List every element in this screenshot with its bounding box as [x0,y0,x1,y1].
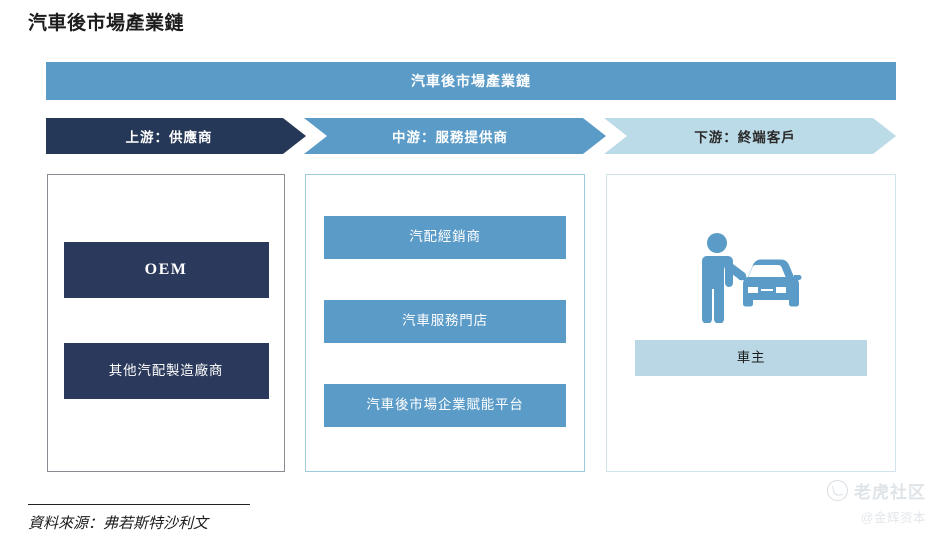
chevron-label-downstream: 下游：終端客戶 [694,126,806,146]
banner-label: 汽車後市場產業鏈 [411,71,531,91]
chevron-label-upstream: 上游：供應商 [126,126,227,146]
node-label-oem: OEM [145,260,188,279]
node-label-car-owner: 車主 [737,350,766,366]
node-label-enablement-platform: 汽車後市場企業賦能平台 [366,397,523,413]
value-chain-banner: 汽車後市場產業鏈 [46,62,896,100]
node-box-enablement-platform[interactable]: 汽車後市場企業賦能平台 [324,384,566,427]
page-title: 汽車後市場產業鏈 [28,8,184,35]
person-with-car-icon [691,230,811,324]
chevron-label-midstream: 中游：服務提供商 [392,126,518,146]
chevron-stage-downstream[interactable]: 下游：終端客戶 [604,118,896,154]
node-box-oem[interactable]: OEM [64,242,269,298]
watermark-brand-row: 老虎社区 [756,478,926,503]
panel-midstream: 汽配經銷商 汽車服務門店 汽車後市場企業賦能平台 [305,174,585,472]
chevron-stage-midstream[interactable]: 中游：服務提供商 [304,118,606,154]
node-label-service-store: 汽車服務門店 [402,313,488,329]
panel-upstream: OEM 其他汽配製造廠商 [47,174,285,472]
chevron-stage-upstream[interactable]: 上游：供應商 [46,118,306,154]
watermark-handle-label: @金辉资本 [756,507,926,526]
chevron-stage-row: 上游：供應商 中游：服務提供商 下游：終端客戶 [46,118,896,154]
node-box-service-store[interactable]: 汽車服務門店 [324,300,566,343]
node-label-parts-dealer: 汽配經銷商 [409,229,481,245]
node-label-other-parts-manufacturers: 其他汽配製造廠商 [109,363,223,379]
node-box-car-owner[interactable]: 車主 [635,340,867,376]
source-note: 資料來源：弗若斯特沙利文 [28,512,208,533]
tiger-logo-icon [827,480,848,501]
watermark: 老虎社区 @金辉资本 [756,478,926,526]
watermark-brand-label: 老虎社区 [854,478,926,503]
footer-divider [28,504,250,505]
node-box-parts-dealer[interactable]: 汽配經銷商 [324,216,566,259]
panel-downstream: 車主 [606,174,896,472]
node-box-other-parts-manufacturers[interactable]: 其他汽配製造廠商 [64,343,269,399]
